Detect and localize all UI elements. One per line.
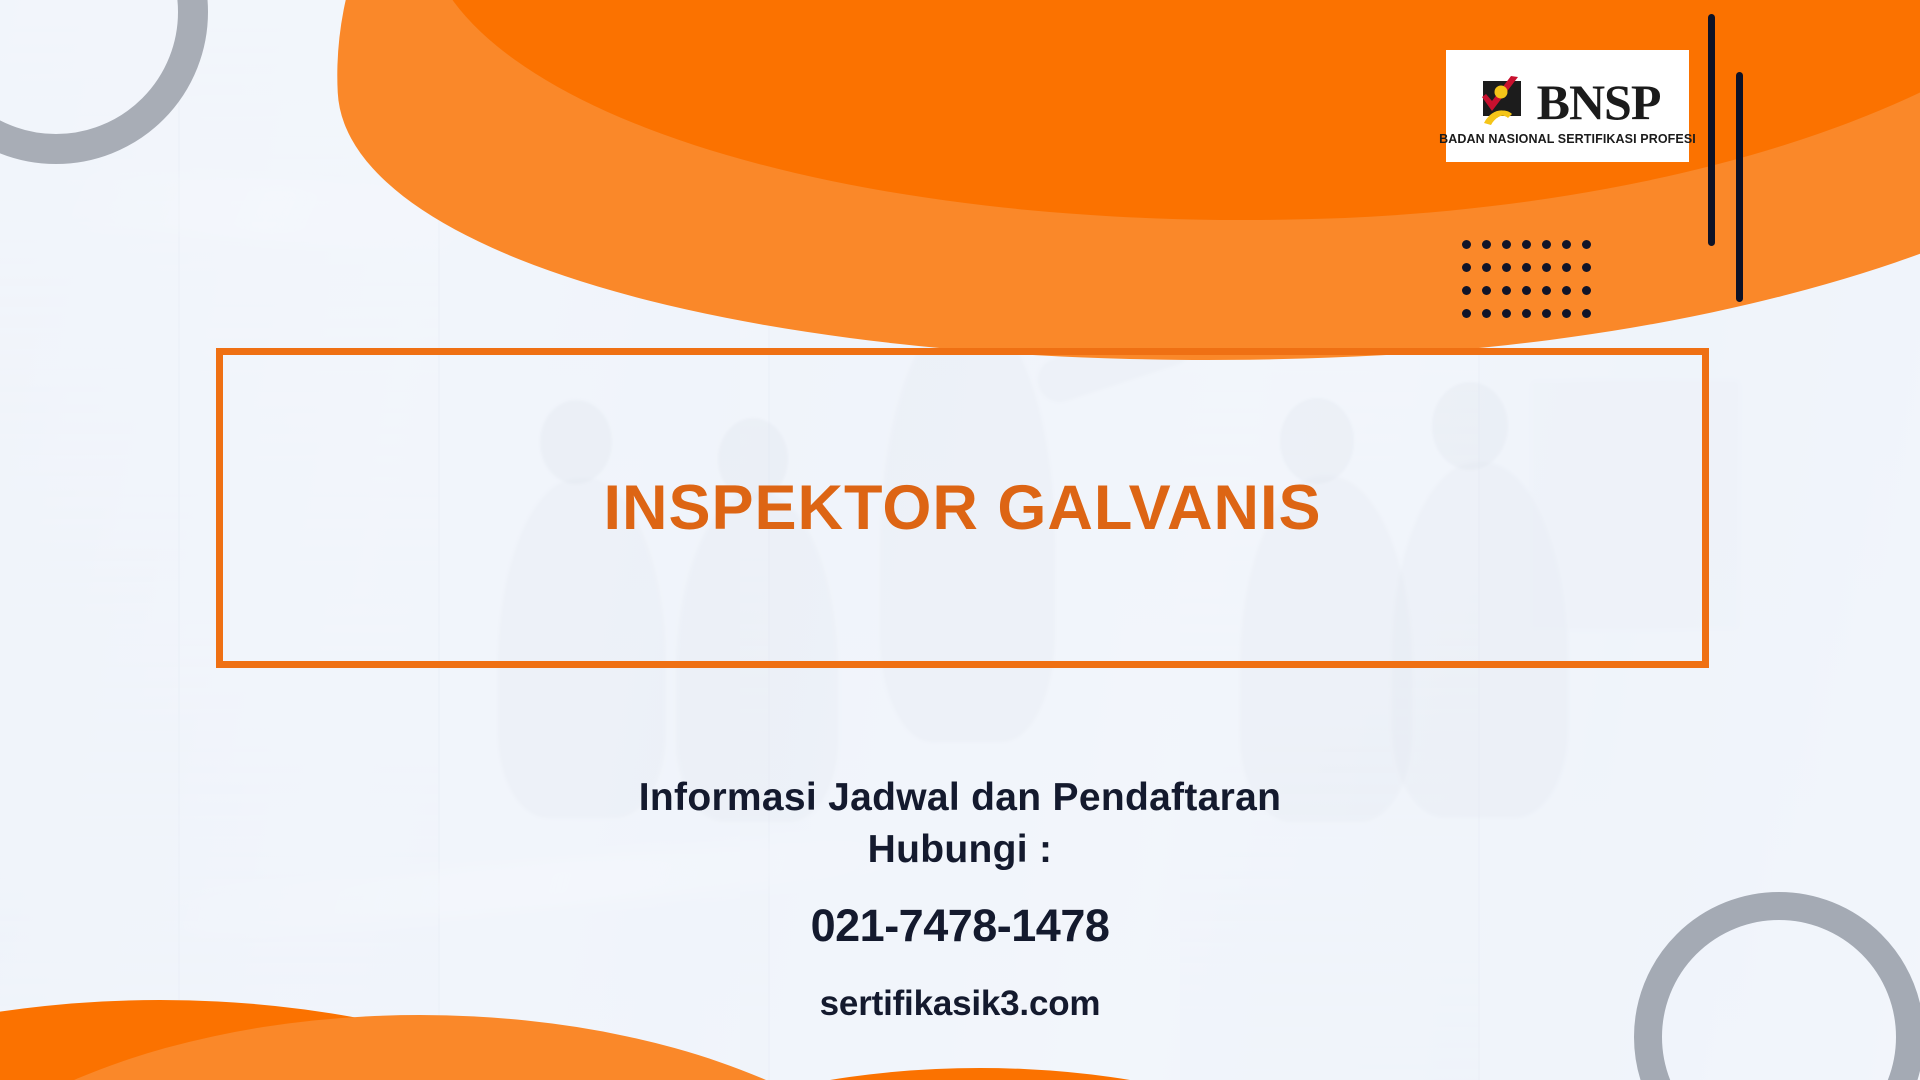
bnsp-logo: BNSP BADAN NASIONAL SERTIFIKASI PROFESI <box>1446 50 1689 162</box>
bnsp-emblem-icon <box>1475 73 1535 131</box>
vertical-bar-right <box>1736 72 1743 302</box>
grid-dot <box>1482 263 1491 272</box>
grid-dot <box>1522 240 1531 249</box>
contact-phone[interactable]: 021-7478-1478 <box>0 900 1920 952</box>
grid-dot <box>1522 263 1531 272</box>
grid-dot <box>1542 263 1551 272</box>
grid-dot <box>1482 309 1491 318</box>
bnsp-emblem-svg <box>1475 73 1535 131</box>
bnsp-wordmark: BNSP <box>1537 77 1661 127</box>
bnsp-logo-row: BNSP <box>1475 71 1661 133</box>
grid-dot <box>1462 309 1471 318</box>
page-title: INSPEKTOR GALVANIS <box>223 472 1702 544</box>
bnsp-subtitle: BADAN NASIONAL SERTIFIKASI PROFESI <box>1439 132 1696 146</box>
dot-grid-decoration <box>1462 240 1602 332</box>
grid-dot <box>1562 240 1571 249</box>
grid-dot <box>1582 240 1591 249</box>
title-frame: INSPEKTOR GALVANIS <box>216 348 1709 668</box>
grid-dot <box>1542 240 1551 249</box>
grid-dot <box>1542 309 1551 318</box>
grid-dot <box>1542 286 1551 295</box>
grid-dot <box>1522 309 1531 318</box>
contact-website[interactable]: sertifikasik3.com <box>0 984 1920 1024</box>
grid-dot <box>1502 309 1511 318</box>
contact-line-hubungi: Hubungi : <box>0 824 1920 876</box>
grid-dot <box>1462 240 1471 249</box>
grid-dot <box>1562 309 1571 318</box>
grid-dot <box>1462 286 1471 295</box>
grid-dot <box>1502 263 1511 272</box>
grid-dot <box>1482 240 1491 249</box>
grid-dot <box>1522 286 1531 295</box>
grid-dot <box>1462 263 1471 272</box>
poster-canvas: BNSP BADAN NASIONAL SERTIFIKASI PROFESI … <box>0 0 1920 1080</box>
grid-dot <box>1582 263 1591 272</box>
grid-dot <box>1502 240 1511 249</box>
contact-block: Informasi Jadwal dan Pendaftaran Hubungi… <box>0 772 1920 1024</box>
grid-dot <box>1482 286 1491 295</box>
grid-dot <box>1502 286 1511 295</box>
grid-dot <box>1562 286 1571 295</box>
grid-dot <box>1582 286 1591 295</box>
contact-line-info: Informasi Jadwal dan Pendaftaran <box>0 772 1920 824</box>
grid-dot <box>1582 309 1591 318</box>
vertical-bar-left <box>1708 14 1715 246</box>
grid-dot <box>1562 263 1571 272</box>
